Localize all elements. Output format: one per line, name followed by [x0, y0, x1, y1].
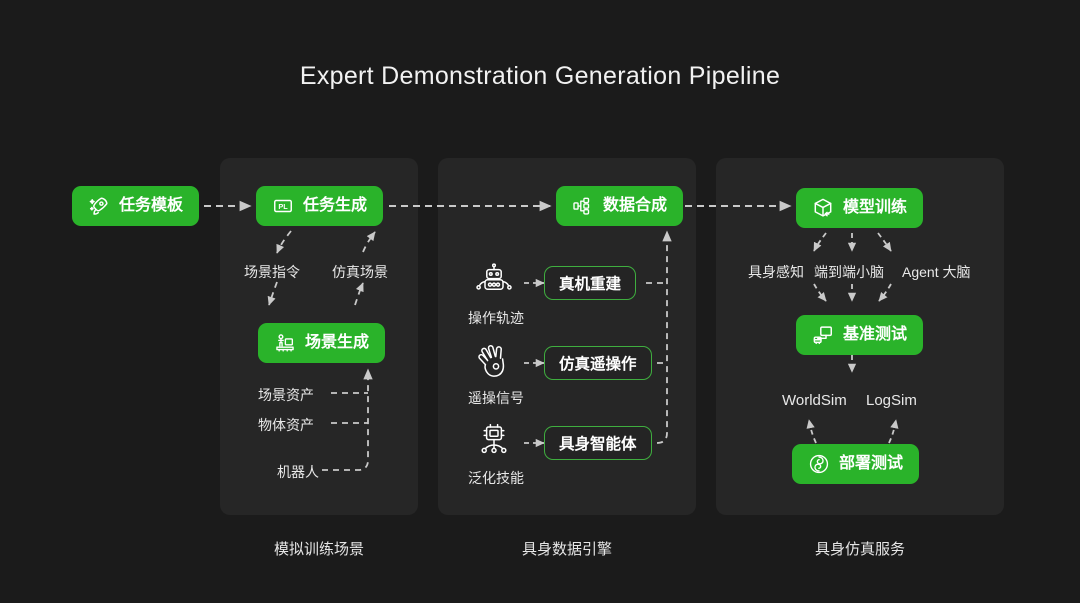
node-real-machine-reconstruction[interactable]: 真机重建 [544, 266, 636, 300]
node-data-synthesis[interactable]: 数据合成 [556, 186, 683, 226]
swirl-icon [808, 453, 830, 475]
node-label: 基准测试 [843, 327, 907, 344]
node-model-training[interactable]: 模型训练 [796, 188, 923, 228]
scene-robot-icon [274, 332, 296, 354]
node-label: 部署测试 [839, 456, 903, 473]
svg-text:PL: PL [278, 202, 288, 211]
node-label: 模型训练 [843, 200, 907, 217]
rocket-icon [88, 195, 110, 217]
chip-icon [472, 422, 516, 462]
node-embodied-agent[interactable]: 具身智能体 [544, 426, 652, 460]
input-label-object-assets: 物体资产 [258, 415, 314, 435]
page-title: Expert Demonstration Generation Pipeline [0, 62, 1080, 91]
pipeline-diagram: Expert Demonstration Generation Pipeline [0, 0, 1080, 603]
monitor-icon [812, 324, 834, 346]
sim-label-logsim: LogSim [866, 392, 917, 409]
row-source-label-operation-trajectory: 操作轨迹 [468, 308, 524, 328]
edge-label-scene-instruction: 场景指令 [244, 262, 300, 282]
training-label-agent-brain: Agent 大脑 [902, 262, 970, 282]
training-label-end-to-end-cerebellum: 端到端小脑 [814, 262, 884, 282]
node-task-generation[interactable]: PL 任务生成 [256, 186, 383, 226]
node-label: 任务模板 [119, 198, 183, 215]
node-deployment-test[interactable]: 部署测试 [792, 444, 919, 484]
panel-caption-embodied-simulation-service: 具身仿真服务 [716, 538, 1004, 559]
node-task-template[interactable]: 任务模板 [72, 186, 199, 226]
training-label-embodied-perception: 具身感知 [748, 262, 804, 282]
cube-icon [812, 197, 834, 219]
edge-label-simulation-scene: 仿真场景 [332, 262, 388, 282]
data-merge-icon [572, 195, 594, 217]
node-label: 场景生成 [305, 335, 369, 352]
panel-caption-simulation-training-scene: 模拟训练场景 [220, 538, 418, 559]
node-label: 任务生成 [303, 198, 367, 215]
node-benchmark-test[interactable]: 基准测试 [796, 315, 923, 355]
sim-label-worldsim: WorldSim [782, 392, 847, 409]
input-label-scene-assets: 场景资产 [258, 385, 314, 405]
input-label-robot: 机器人 [277, 462, 319, 482]
robot-icon [472, 262, 516, 302]
node-label: 数据合成 [603, 198, 667, 215]
pl-badge-icon: PL [272, 195, 294, 217]
row-source-label-teleop-signal: 遥操信号 [468, 388, 524, 408]
row-source-label-generalization-skill: 泛化技能 [468, 468, 524, 488]
node-scene-generation[interactable]: 场景生成 [258, 323, 385, 363]
node-simulated-teleoperation[interactable]: 仿真遥操作 [544, 346, 652, 380]
glove-icon [472, 342, 516, 382]
panel-caption-embodied-data-engine: 具身数据引擎 [438, 538, 696, 559]
